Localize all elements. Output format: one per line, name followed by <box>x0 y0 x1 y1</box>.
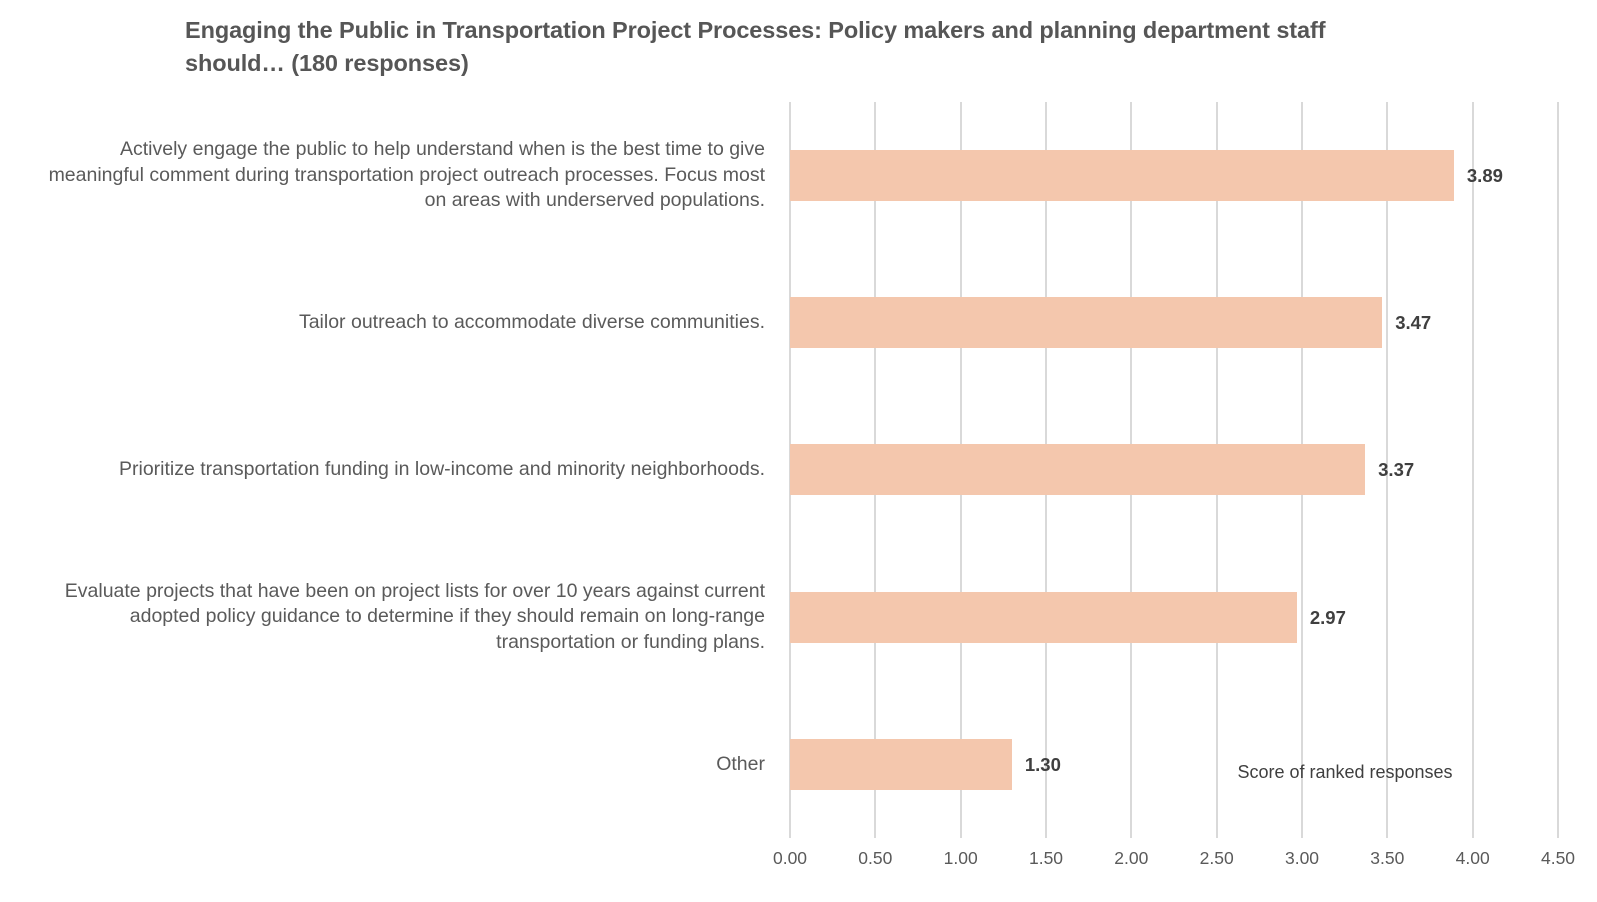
bar-value-label: 2.97 <box>1297 592 1346 643</box>
category-label: Tailor outreach to accommodate diverse c… <box>5 310 765 335</box>
x-tick-3.00: 3.00 <box>1257 848 1347 869</box>
bar[interactable] <box>790 592 1297 643</box>
x-tick-2.00: 2.00 <box>1086 848 1176 869</box>
category-label: Evaluate projects that have been on proj… <box>5 579 765 655</box>
x-tick-4.50: 4.50 <box>1513 848 1597 869</box>
category-label: Other <box>5 752 765 777</box>
bar-band: 3.89 <box>790 102 1558 249</box>
bar-value-label: 3.37 <box>1365 444 1414 495</box>
bar-value-label: 3.89 <box>1454 150 1503 201</box>
x-tick-3.50: 3.50 <box>1342 848 1432 869</box>
x-tick-1.50: 1.50 <box>1001 848 1091 869</box>
bar-band: 2.97 <box>790 544 1558 691</box>
x-tick-0.50: 0.50 <box>830 848 920 869</box>
x-tick-0.00: 0.00 <box>745 848 835 869</box>
plot-area: 3.893.473.372.971.30 <box>790 102 1558 838</box>
category-label: Prioritize transportation funding in low… <box>5 457 765 482</box>
bar[interactable] <box>790 150 1454 201</box>
bar[interactable] <box>790 444 1365 495</box>
x-axis-tick-labels: 0.000.501.001.502.002.503.003.504.004.50 <box>0 848 1597 878</box>
bar-band: 3.37 <box>790 396 1558 543</box>
category-label: Actively engage the public to help under… <box>5 137 765 213</box>
bar-value-label: 1.30 <box>1012 739 1061 790</box>
x-axis-caption: Score of ranked responses <box>1135 762 1555 783</box>
bar-band: 3.47 <box>790 249 1558 396</box>
bar-value-label: 3.47 <box>1382 297 1431 348</box>
x-tick-1.00: 1.00 <box>916 848 1006 869</box>
bar-chart: Actively engage the public to help under… <box>0 0 1597 902</box>
bar[interactable] <box>790 739 1012 790</box>
x-tick-2.50: 2.50 <box>1172 848 1262 869</box>
x-tick-4.00: 4.00 <box>1428 848 1518 869</box>
bar[interactable] <box>790 297 1382 348</box>
